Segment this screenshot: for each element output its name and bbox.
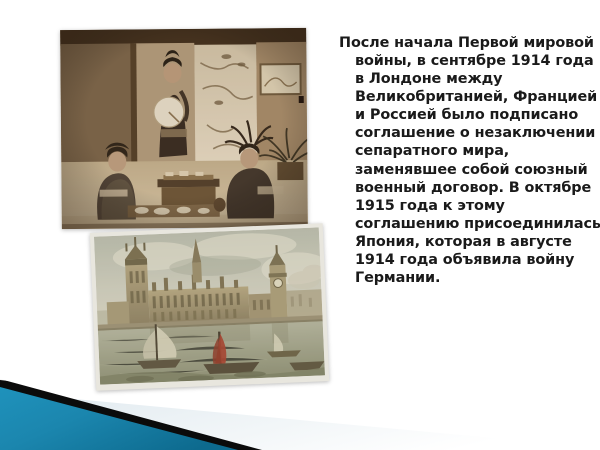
wedge-teal-body <box>0 381 258 450</box>
slide: После начала Первой мировой войны, в сен… <box>0 0 600 450</box>
wedge-pale-sliver <box>0 392 600 450</box>
wedge-dark-stripe <box>0 379 262 450</box>
london-parliament-painting-image <box>94 227 325 384</box>
body-text: После начала Первой мировой войны, в сен… <box>330 34 600 287</box>
japanese-interior-photo-image <box>60 28 308 229</box>
japanese-interior-photo <box>60 28 308 229</box>
photo-edge-artifact <box>299 96 304 103</box>
london-parliament-painting <box>90 223 329 391</box>
